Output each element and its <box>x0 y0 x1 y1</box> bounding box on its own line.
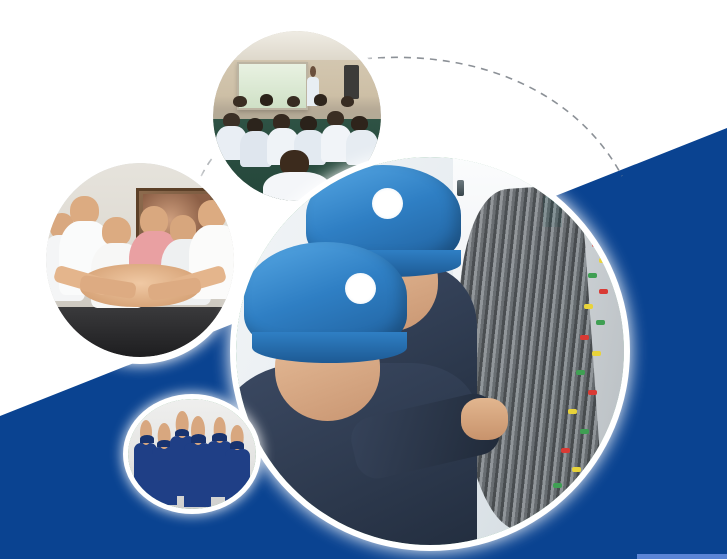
sensor-icon <box>457 180 464 196</box>
bottom-right-accent-bar <box>637 554 727 559</box>
team-hands-scene <box>46 163 234 357</box>
uniformed-crew-scene <box>128 399 256 509</box>
front-worker-helmet-brim <box>252 332 407 363</box>
wall-speaker-icon <box>344 65 359 99</box>
helmet-company-badge-icon <box>372 188 403 219</box>
photo-circle-team-hands <box>46 163 234 357</box>
electricians-scene <box>236 157 624 545</box>
banner-canvas <box>0 0 727 559</box>
photo-circle-uniformed-crew <box>128 399 256 509</box>
front-helmet-company-badge-icon <box>345 273 376 304</box>
photo-circle-electricians <box>236 157 624 545</box>
